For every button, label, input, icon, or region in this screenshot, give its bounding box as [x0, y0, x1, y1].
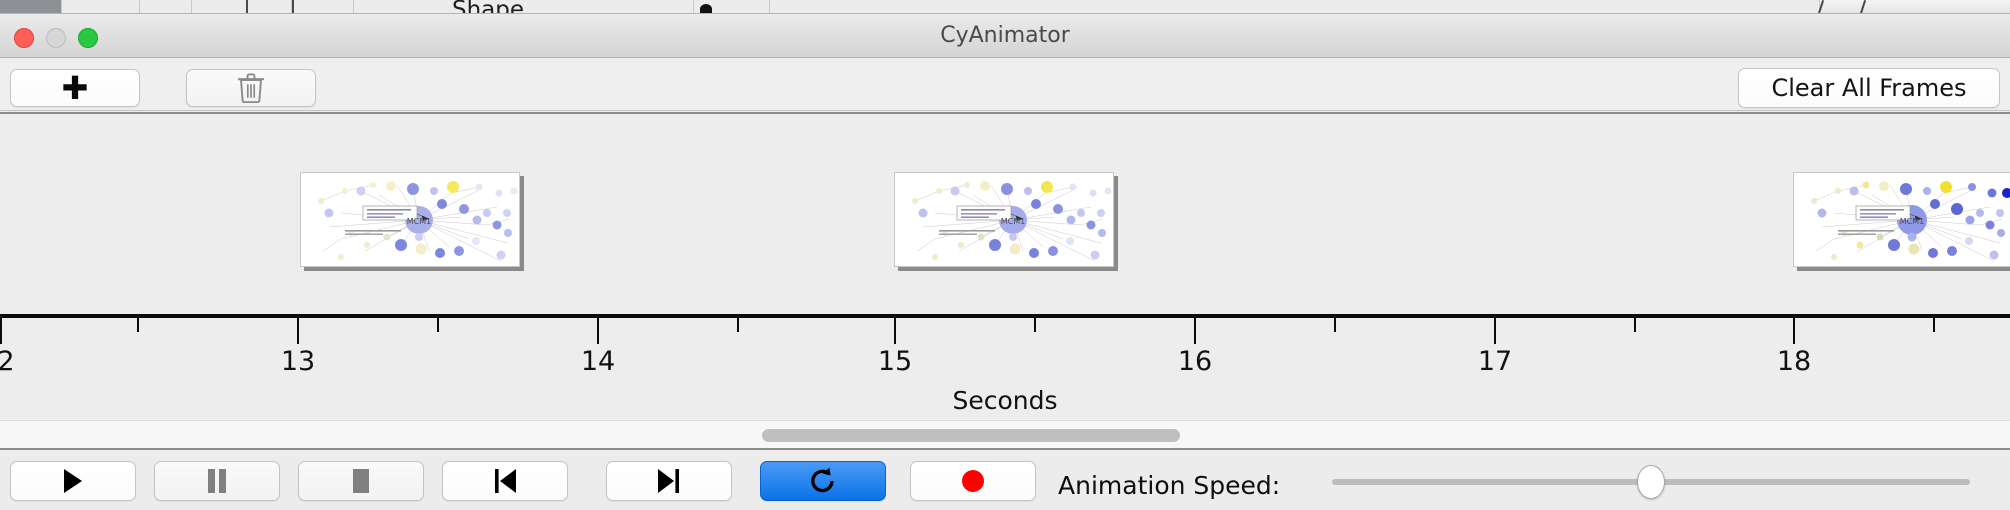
axis-line	[0, 314, 2010, 318]
axis-tick-minor	[1933, 318, 1935, 332]
delete-frame-button[interactable]	[186, 69, 316, 107]
bg-segment	[292, 0, 354, 14]
trash-icon	[238, 73, 264, 103]
frames-area[interactable]: MCM1	[0, 114, 2010, 314]
title-bar: CyAnimator	[0, 14, 2010, 58]
axis-tick-label: 2	[0, 346, 15, 377]
frame-thumbnail[interactable]: MCM1	[300, 172, 520, 267]
bg-segment	[770, 0, 1820, 14]
timeline-axis[interactable]: 2 13 14 15 16 17 18 Seconds	[0, 314, 2010, 420]
skip-start-button[interactable]	[442, 461, 568, 501]
pause-button[interactable]	[154, 461, 280, 501]
axis-tick-major	[1494, 318, 1496, 344]
skip-end-button[interactable]	[606, 461, 732, 501]
clear-all-frames-button[interactable]: Clear All Frames	[1738, 68, 2000, 108]
record-icon	[960, 468, 986, 494]
axis-tick-label: 14	[581, 346, 615, 377]
frame-thumbnail[interactable]: MCM1	[1793, 172, 2010, 267]
timeline-scrollbar[interactable]	[0, 420, 2010, 448]
axis-tick-minor	[737, 318, 739, 332]
axis-tick-minor	[1334, 318, 1336, 332]
frame-thumbnail[interactable]: MCM1	[894, 172, 1114, 267]
axis-tick-label: 13	[281, 346, 315, 377]
bg-segment	[140, 0, 192, 14]
background-window-strip: Shape	[0, 0, 2010, 14]
network-thumbnail-graphic: MCM1	[895, 173, 1114, 267]
skip-end-icon	[656, 468, 682, 494]
svg-text:MCM1: MCM1	[1900, 217, 1924, 226]
axis-tick-major	[297, 318, 299, 344]
axis-tick-label: 18	[1777, 346, 1811, 377]
loop-icon	[809, 467, 837, 495]
add-frame-button[interactable]: ✚	[10, 69, 140, 107]
stop-button[interactable]	[298, 461, 424, 501]
axis-tick-major	[1194, 318, 1196, 344]
svg-text:MCM1: MCM1	[1001, 217, 1025, 226]
animation-speed-slider[interactable]	[1332, 479, 1970, 485]
bg-marker	[700, 4, 712, 14]
plus-icon: ✚	[62, 72, 89, 104]
bg-divider	[1860, 0, 1866, 14]
axis-title: Seconds	[0, 386, 2010, 415]
bg-segment	[192, 0, 292, 14]
window-title: CyAnimator	[0, 23, 2010, 48]
network-thumbnail-graphic: MCM1	[1794, 173, 2010, 267]
axis-tick-major	[0, 318, 2, 344]
axis-tick-label: 17	[1478, 346, 1512, 377]
loop-button[interactable]	[760, 461, 886, 501]
axis-tick-major	[894, 318, 896, 344]
axis-tick-minor	[1034, 318, 1036, 332]
playback-bar: Animation Speed:	[0, 448, 2010, 510]
skip-start-icon	[492, 468, 518, 494]
pause-icon	[206, 468, 228, 494]
axis-tick-minor	[437, 318, 439, 332]
record-button[interactable]	[910, 461, 1036, 501]
play-button[interactable]	[10, 461, 136, 501]
network-thumbnail-graphic: MCM1	[301, 173, 520, 267]
axis-tick-minor	[1634, 318, 1636, 332]
animation-speed-slider-thumb[interactable]	[1637, 465, 1665, 499]
bg-segment	[62, 0, 140, 14]
bg-segment	[0, 0, 62, 14]
animation-speed-label: Animation Speed:	[1058, 471, 1280, 500]
axis-tick-minor	[137, 318, 139, 332]
bg-divider	[246, 0, 248, 14]
axis-tick-major	[1793, 318, 1795, 344]
timeline-panel[interactable]: MCM1	[0, 112, 2010, 420]
toolbar: ✚ Clear All Frames	[0, 59, 2010, 111]
scrollbar-thumb[interactable]	[762, 429, 1180, 442]
axis-tick-label: 15	[878, 346, 912, 377]
axis-tick-label: 16	[1178, 346, 1212, 377]
stop-icon	[349, 468, 373, 494]
bg-divider	[292, 0, 294, 14]
play-icon	[61, 468, 85, 494]
svg-text:MCM1: MCM1	[407, 217, 431, 226]
background-shape-label: Shape	[452, 0, 524, 14]
axis-tick-major	[597, 318, 599, 344]
